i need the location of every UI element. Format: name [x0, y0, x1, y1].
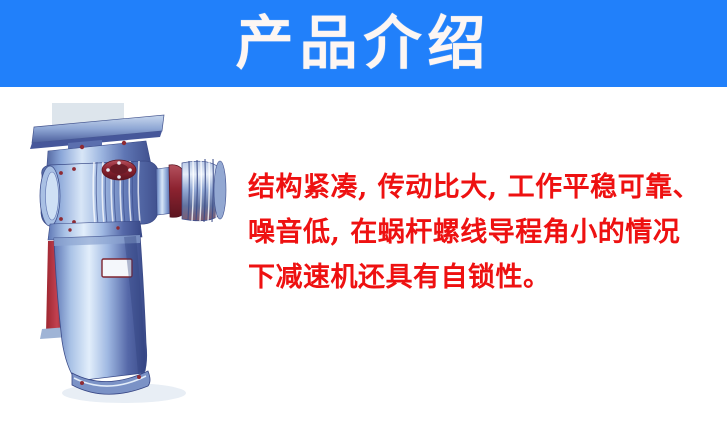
worm-gear-reducer-icon: [6, 91, 242, 411]
header-banner: 产品介绍: [0, 0, 727, 87]
product-introduction-page: 产品介绍: [0, 0, 727, 427]
description-line-3: 下减速机还具有自锁性。: [248, 255, 668, 300]
description-line-2: 噪音低, 在蜗杆螺线导程角小的情况: [248, 210, 668, 255]
page-title: 产品介绍: [0, 6, 727, 80]
product-image: [6, 91, 242, 411]
product-description: 结构紧凑, 传动比大, 工作平稳可靠、 噪音低, 在蜗杆螺线导程角小的情况 下减…: [248, 165, 668, 300]
main-content: 结构紧凑, 传动比大, 工作平稳可靠、 噪音低, 在蜗杆螺线导程角小的情况 下减…: [0, 87, 727, 427]
description-line-1: 结构紧凑, 传动比大, 工作平稳可靠、: [248, 165, 668, 210]
